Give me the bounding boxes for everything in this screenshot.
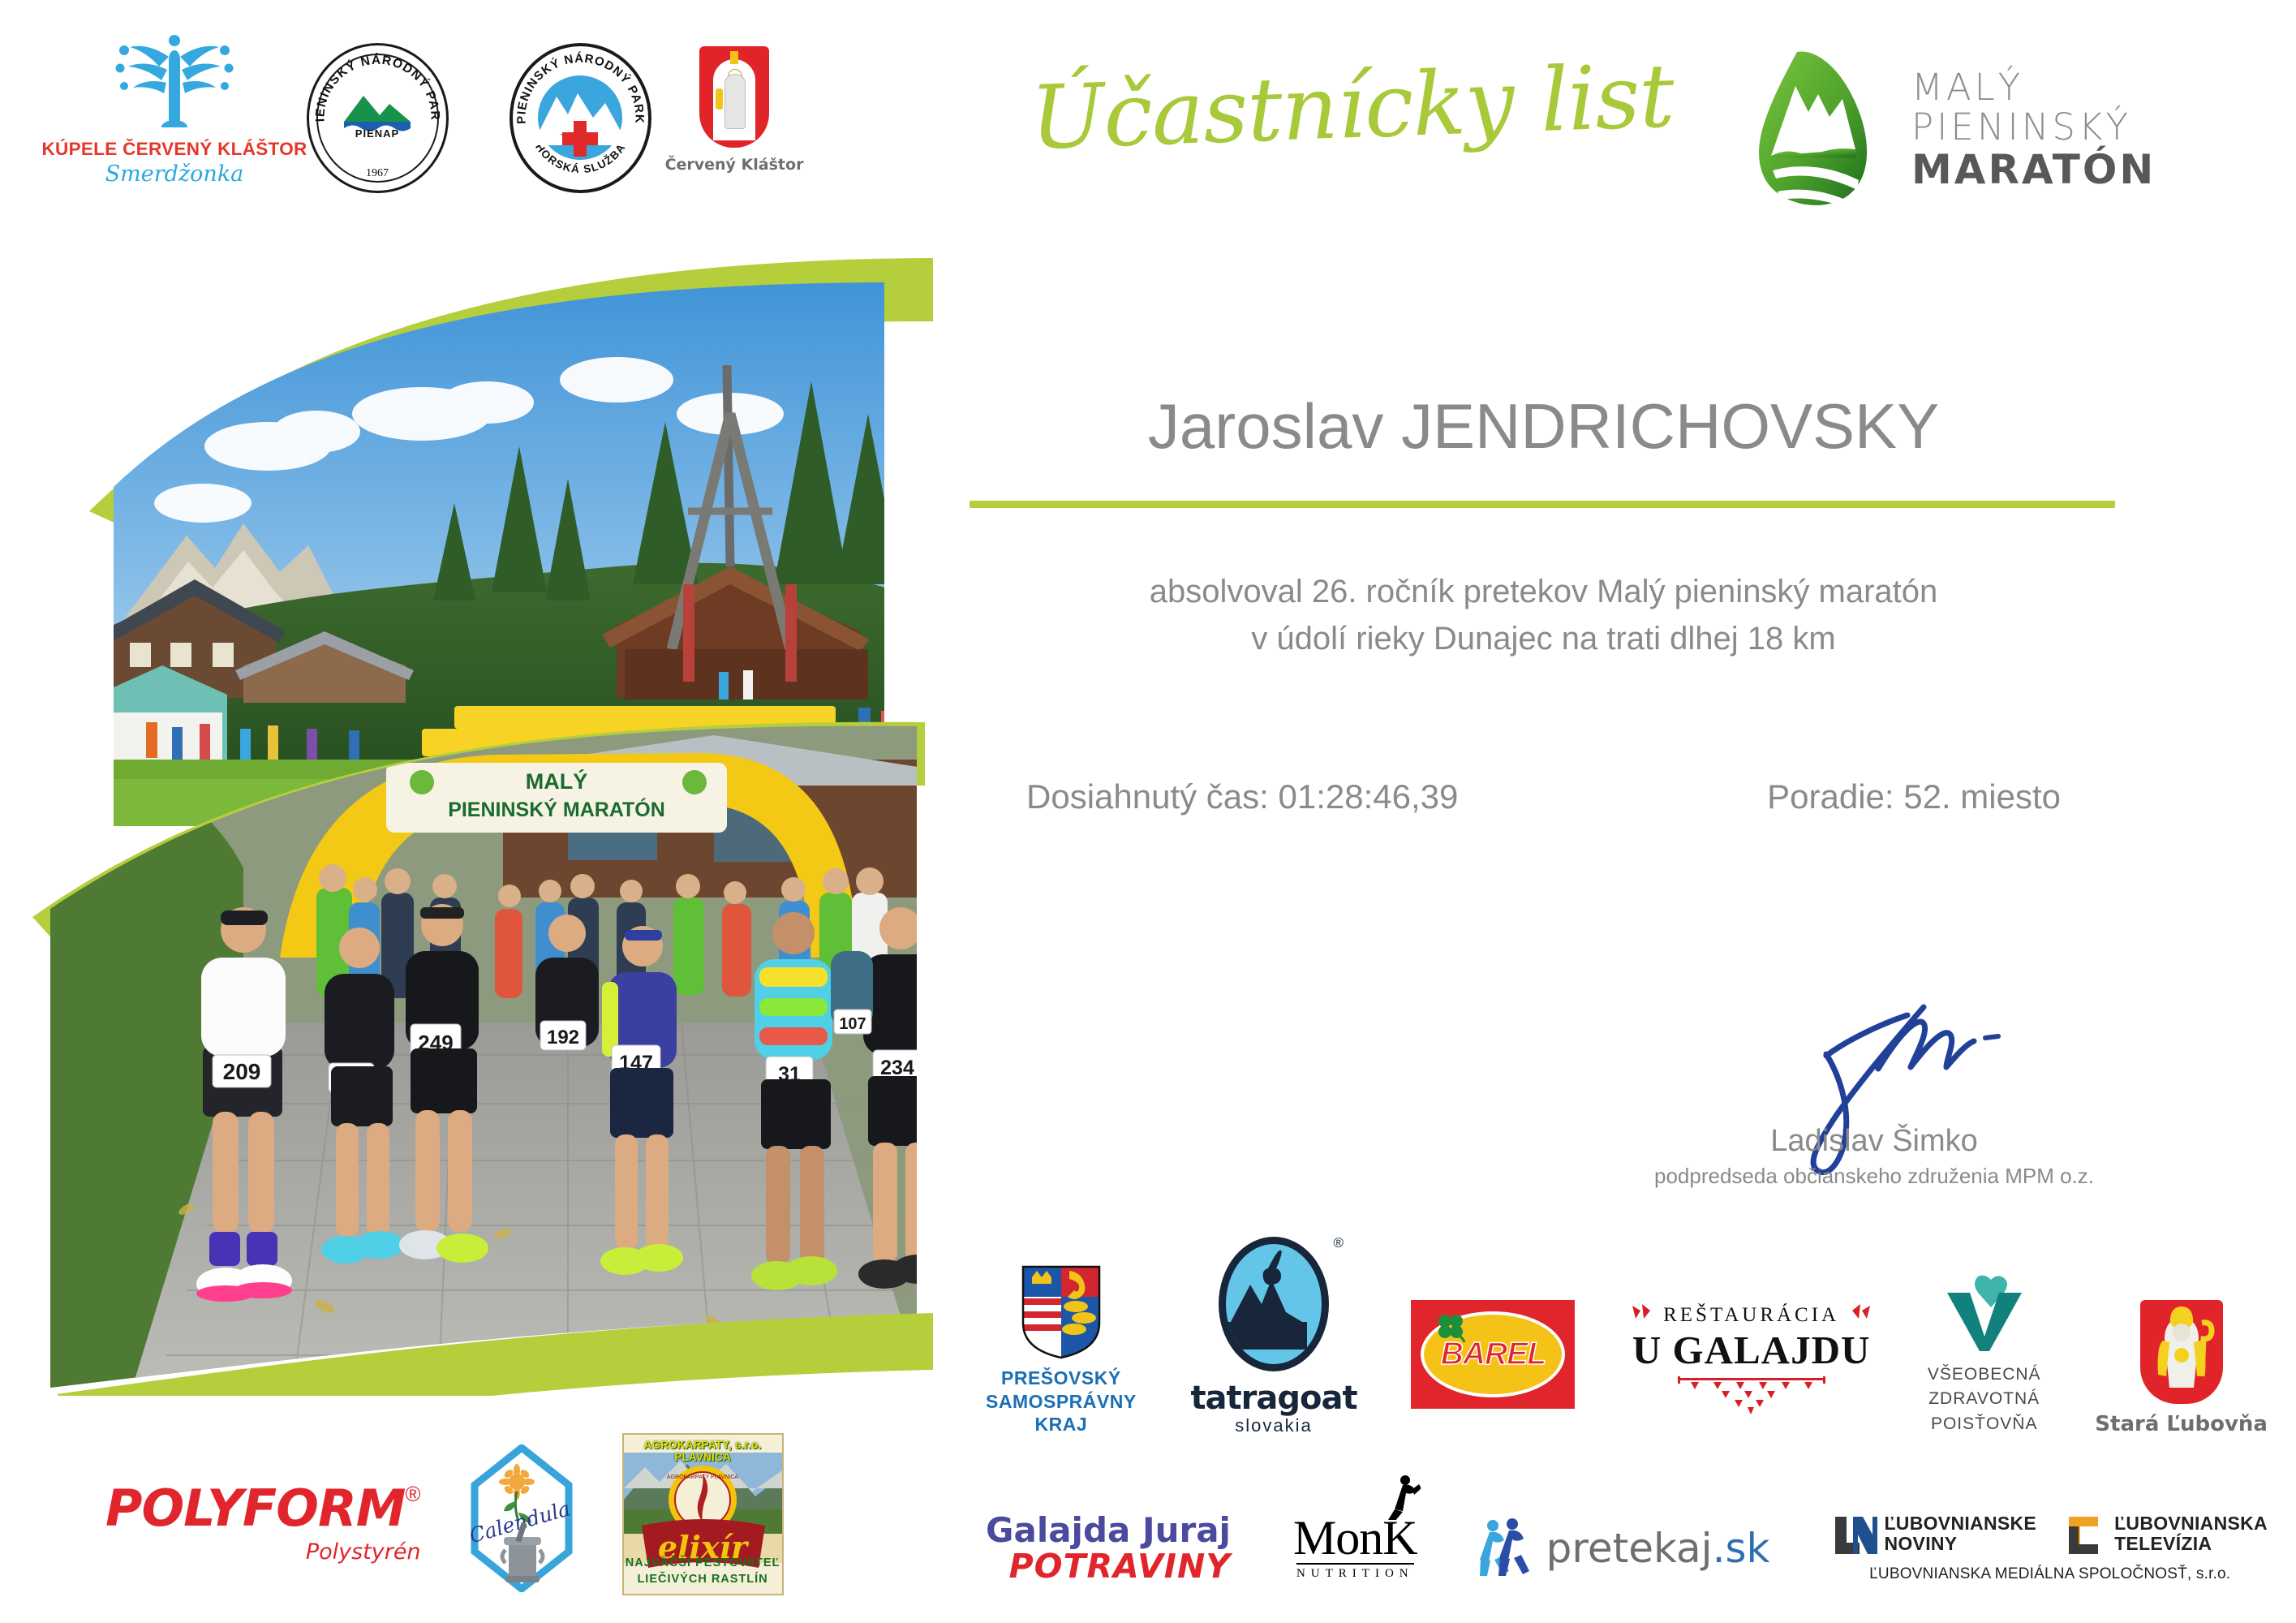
svg-text:PIENINSKÝ MARATÓN: PIENINSKÝ MARATÓN [448, 797, 665, 821]
finish-time: Dosiahnutý čas: 01:28:46,39 [1026, 777, 1458, 816]
description-line-2: v údolí rieky Dunajec na trati dlhej 18 … [970, 615, 2118, 662]
photo-collage: MALÝ PIENINSKÝ MARATÓN [0, 243, 941, 1396]
pienap-year: 1967 [307, 167, 449, 180]
certificate-page: KÚPELE ČERVENÝ KLÁŠTOR Smerdžonka PIENIN… [0, 0, 2296, 1623]
sponsor-presovsky-samospravny-kraj: PREŠOVSKÝ SAMOSPRÁVNY KRAJ [986, 1264, 1137, 1436]
psk-line2: SAMOSPRÁVNY [986, 1390, 1137, 1414]
runner-107: 107 [831, 951, 873, 1034]
shield-monk-figure [724, 74, 746, 129]
description-line-1: absolvoval 26. ročník pretekov Malý pien… [970, 568, 2118, 615]
pretekaj-wordmark: pretekaj.sk [1546, 1525, 1770, 1572]
pienap-emblem [334, 74, 420, 152]
psk-coat-of-arms-icon [1021, 1264, 1102, 1360]
stara-lubovna-shield-icon [2140, 1300, 2223, 1404]
svg-text:192: 192 [547, 1027, 579, 1048]
vszp-line1: VŠEOBECNÁ [1928, 1363, 2041, 1387]
sponsor-row-left: POLYFORM ® Polystyrén Calendula [105, 1363, 933, 1599]
agrokarpaty-top: AGROKARPATY, s.r.o. PLAVNICA [624, 1439, 782, 1463]
signatory-name: Ladislav Šimko [1606, 1124, 2142, 1159]
folk-ornament-left-icon [1629, 1302, 1653, 1328]
barel-oval: BAREL [1421, 1311, 1565, 1397]
svg-text:107: 107 [839, 1015, 866, 1033]
folk-ornament-right-icon [1849, 1302, 1873, 1328]
agrokarpaty-bottom1: NAJVÄČŠÍ PESTOVATEĽ [624, 1556, 782, 1569]
pienap-label: PIENAP [307, 127, 449, 140]
u-galajdu-top: REŠTAURÁCIA [1663, 1304, 1839, 1327]
registered-mark-icon: ® [1334, 1235, 1344, 1251]
vszp-line2: ZDRAVOTNÁ [1928, 1387, 2041, 1411]
clover-icon [1435, 1311, 1466, 1342]
event-logo-line1: MALÝ [1911, 68, 2156, 108]
sponsor-monk-nutrition: MonK NUTRITION [1293, 1515, 1417, 1581]
tatragoat-emblem-icon [1219, 1237, 1329, 1371]
ln-line2: NOVINY [1884, 1534, 2036, 1555]
ln-line1: ĽUBOVNIANSKE [1884, 1513, 2036, 1535]
signatory-role: podpredseda občianskeho združenia MPM o.… [1606, 1164, 2142, 1189]
rank-place: Poradie: 52. miesto [1767, 777, 2061, 816]
logo-obec-cerveny-klastor: Červený Kláštor [681, 43, 787, 174]
event-logo-line3: MARATÓN [1911, 148, 2156, 192]
top-partner-logos: KÚPELE ČERVENÝ KLÁŠTOR Smerdžonka PIENIN… [73, 37, 933, 223]
galajda-line2: POTRAVINY [1009, 1547, 1231, 1586]
signature-block: Ladislav Šimko podpredseda občianskeho z… [1606, 1002, 2142, 1189]
logo-lubovnianske-noviny: ĽUBOVNIANSKE NOVINY [1832, 1513, 2036, 1556]
lm-logos: ĽUBOVNIANSKE NOVINY ĽUBOVNIANSKA TELEVÍZ… [1832, 1513, 2268, 1556]
vszp-logo-icon [1942, 1275, 2027, 1353]
ltv-line1: ĽUBOVNIANSKA [2114, 1513, 2268, 1535]
participant-name: Jaroslav JENDRICHOVSKY [970, 390, 2118, 463]
sponsor-pretekaj-sk: pretekaj.sk [1480, 1516, 1770, 1581]
sponsor-lubovnianska-medialna: ĽUBOVNIANSKE NOVINY ĽUBOVNIANSKA TELEVÍZ… [1832, 1513, 2268, 1583]
sponsor-agrokarpaty-elixir: AGROKARPATY PLAVNICA elixír AGROKARPATY,… [622, 1433, 784, 1595]
two-runners-icon [1480, 1516, 1538, 1581]
ltv-line2: TELEVÍZIA [2114, 1534, 2268, 1555]
polyform-wordmark: POLYFORM [105, 1479, 405, 1538]
ln-label: ĽUBOVNIANSKE NOVINY [1884, 1513, 2036, 1556]
folk-pattern-icon [1666, 1376, 1837, 1415]
psk-line3: KRAJ [986, 1413, 1137, 1436]
logo-kupele-cerveny-klastor: KÚPELE ČERVENÝ KLÁŠTOR Smerdžonka [73, 37, 276, 187]
sponsor-u-galajdu: REŠTAURÁCIA U GALAJDU [1629, 1302, 1873, 1415]
logo-lubovnianska-televizia: ĽUBOVNIANSKA TELEVÍZIA [2066, 1513, 2268, 1556]
horska-sluzba-seal: PIENINSKÝ NÁRODNÝ PARK HORSKÁ SLUŽBA [510, 43, 651, 193]
cerveny-klastor-caption: Červený Kláštor [665, 156, 804, 174]
shield-key [716, 88, 723, 110]
sponsor-tatragoat: ® tatragoat slovakia [1190, 1237, 1357, 1436]
result-row: Dosiahnutý čas: 01:28:46,39 Poradie: 52.… [970, 777, 2118, 816]
sponsor-row-primary: PREŠOVSKÝ SAMOSPRÁVNY KRAJ ® tatragoat s [986, 1242, 2268, 1436]
monk-wordmark: MonK [1293, 1515, 1417, 1561]
tatragoat-subtitle: slovakia [1235, 1415, 1312, 1436]
page-title: Účastnícky list [1029, 45, 1675, 170]
sponsor-vszp: VŠEOBECNÁ ZDRAVOTNÁ POISŤOVŇA [1928, 1275, 2041, 1436]
pretekaj-tld: .sk [1713, 1525, 1770, 1572]
polyform-registered-icon: ® [405, 1482, 420, 1507]
logo-horska-sluzba: PIENINSKÝ NÁRODNÝ PARK HORSKÁ SLUŽBA [479, 37, 681, 193]
name-divider [970, 501, 2115, 508]
water-angel-icon [97, 37, 252, 134]
psk-label: PREŠOVSKÝ SAMOSPRÁVNY KRAJ [986, 1367, 1137, 1436]
agrokarpaty-label-icon: AGROKARPATY PLAVNICA elixír AGROKARPATY,… [622, 1433, 784, 1595]
certificate-description: absolvoval 26. ročník pretekov Malý pien… [970, 568, 2118, 662]
vszp-label: VŠEOBECNÁ ZDRAVOTNÁ POISŤOVŇA [1928, 1363, 2041, 1436]
tatragoat-wordmark: tatragoat [1190, 1380, 1357, 1417]
ln-mark-icon [1832, 1513, 1877, 1556]
barel-logo-box: BAREL [1411, 1300, 1575, 1409]
agrokarpaty-bottom2: LIEČIVÝCH RASTLÍN [624, 1573, 782, 1586]
lms-footer: ĽUBOVNIANSKA MEDIÁLNA SPOLOČNOSŤ, s.r.o. [1869, 1565, 2230, 1583]
event-logo-line2: PIENINSKÝ [1911, 108, 2156, 148]
sponsor-polyform: POLYFORM ® Polystyrén [105, 1479, 421, 1565]
logo-pieninsky-narodny-park: PIENINSKÝ NÁRODNÝ PARK PIENAP 1967 [276, 37, 479, 193]
svg-text:AGROKARPATY PLAVNICA: AGROKARPATY PLAVNICA [666, 1474, 738, 1480]
leaf-mountain-icon [1748, 49, 1890, 211]
event-logo: MALÝ PIENINSKÝ MARATÓN [1748, 45, 2251, 215]
ltv-mark-icon [2066, 1513, 2108, 1556]
kupele-title: KÚPELE ČERVENÝ KLÁŠTOR [41, 139, 307, 160]
horska-ring-text: PIENINSKÝ NÁRODNÝ PARK HORSKÁ SLUŽBA [510, 43, 651, 193]
vszp-line3: POISŤOVŇA [1928, 1412, 2041, 1436]
u-galajdu-wordmark: U GALAJDU [1632, 1327, 1870, 1373]
monk-subtitle: NUTRITION [1296, 1563, 1414, 1581]
shield-cross [730, 51, 738, 64]
sponsor-stara-lubovna: Stará Ľubovňa [2095, 1300, 2268, 1436]
polyform-subtitle: Polystyrén [105, 1539, 421, 1565]
sponsor-row-secondary: Galajda Juraj POTRAVINY MonK NUTRITION [986, 1489, 2268, 1607]
kupele-subtitle: Smerdžonka [105, 161, 244, 187]
sponsor-galajda-juraj: Galajda Juraj POTRAVINY [986, 1510, 1231, 1586]
cerveny-klastor-shield-icon [699, 46, 769, 148]
stara-lubovna-caption: Stará Ľubovňa [2095, 1412, 2268, 1436]
svg-text:MALÝ: MALÝ [526, 768, 588, 794]
sponsor-calendula: Calendula [470, 1444, 574, 1592]
galajda-line1: Galajda Juraj [986, 1510, 1231, 1550]
svg-text:209: 209 [223, 1059, 261, 1084]
psk-line1: PREŠOVSKÝ [986, 1367, 1137, 1390]
sponsor-barel: BAREL [1411, 1300, 1575, 1409]
pienap-seal: PIENINSKÝ NÁRODNÝ PARK PIENAP 1967 [307, 43, 449, 193]
svg-text:234: 234 [880, 1057, 914, 1079]
event-logo-words: MALÝ PIENINSKÝ MARATÓN [1911, 68, 2156, 191]
pretekaj-name: pretekaj [1546, 1525, 1713, 1572]
calendula-logo-icon: Calendula [470, 1444, 574, 1592]
ltv-label: ĽUBOVNIANSKA TELEVÍZIA [2114, 1513, 2268, 1556]
